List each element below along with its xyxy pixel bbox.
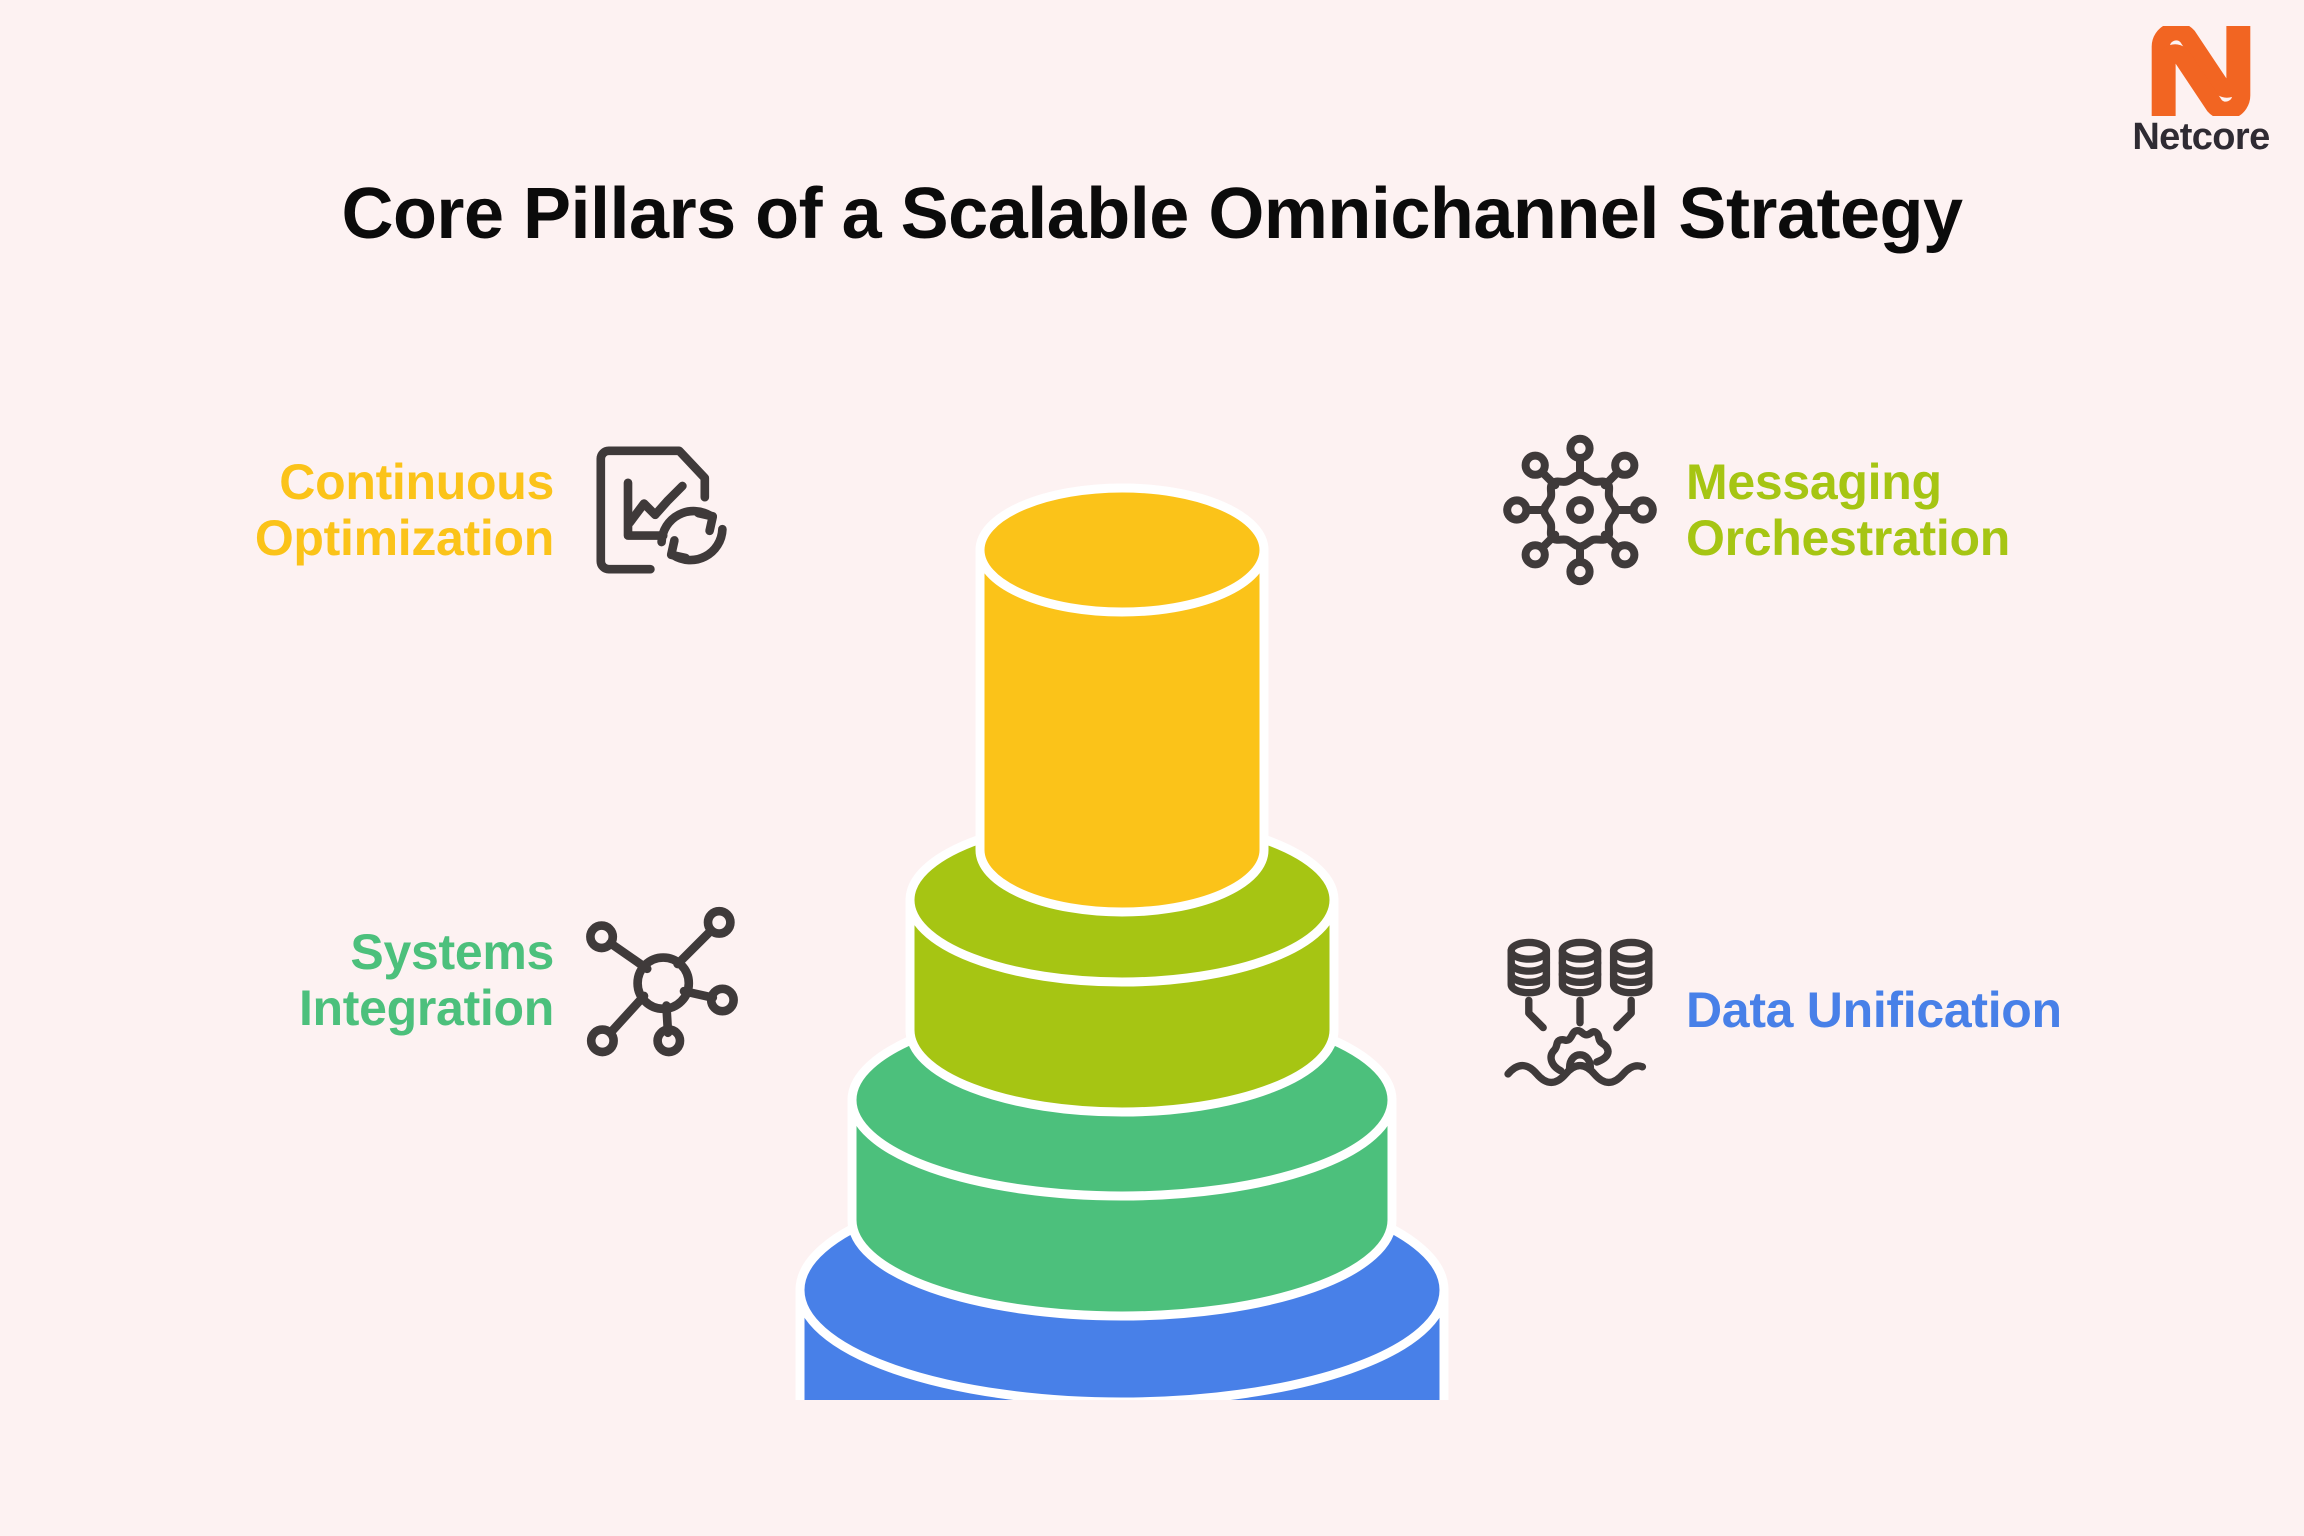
pillar-continuous-optimization: Continuous Optimization bbox=[120, 430, 740, 590]
pillar-label-systems-integration: Systems Integration bbox=[299, 924, 554, 1036]
pillar-label-data-unification: Data Unification bbox=[1686, 982, 2062, 1038]
pillar-label-continuous-optimization: Continuous Optimization bbox=[255, 454, 554, 566]
pillar-systems-integration: Systems Integration bbox=[160, 900, 740, 1060]
infographic-canvas: Netcore Core Pillars of a Scalable Omnic… bbox=[0, 0, 2304, 1536]
document-chart-refresh-icon bbox=[580, 430, 740, 590]
netcore-n-logo-icon bbox=[2149, 26, 2253, 116]
pillar-messaging-orchestration: Messaging Orchestration bbox=[1500, 430, 2160, 590]
node-spokes-icon bbox=[580, 900, 740, 1060]
netcore-logo: Netcore bbox=[2136, 26, 2266, 156]
databases-merge-lake-icon bbox=[1500, 930, 1660, 1090]
network-hub-nodes-icon bbox=[1500, 430, 1660, 590]
cake-tier-top bbox=[980, 488, 1264, 912]
core-pillars-cake-diagram bbox=[762, 400, 1482, 1400]
page-title: Core Pillars of a Scalable Omnichannel S… bbox=[0, 176, 2304, 254]
netcore-wordmark: Netcore bbox=[2132, 118, 2269, 156]
pillar-label-messaging-orchestration: Messaging Orchestration bbox=[1686, 454, 2010, 566]
pillar-data-unification: Data Unification bbox=[1500, 930, 2180, 1090]
